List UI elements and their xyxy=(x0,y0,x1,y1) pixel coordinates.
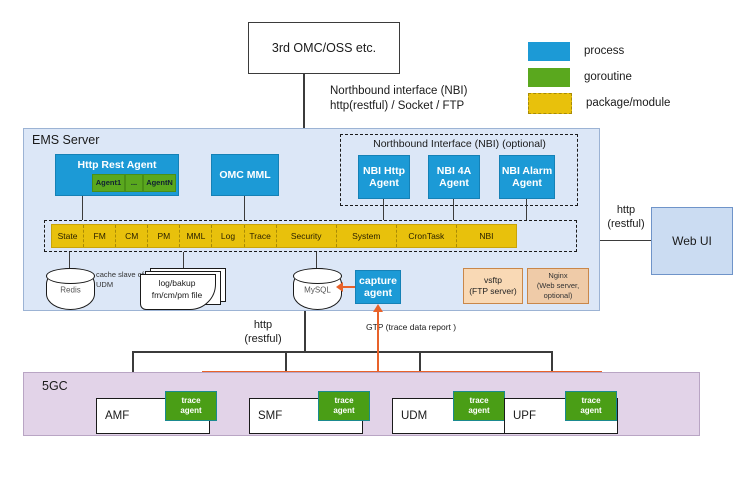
nbi-4a-agent-label: NBI 4A Agent xyxy=(429,165,479,190)
connector-nbi-4a-to-modules xyxy=(453,199,454,220)
nginx-service-box[interactable]: Nginx (Web server, optional) xyxy=(527,268,589,304)
nf-udm-label: UDM xyxy=(401,410,427,422)
nginx-line2: (Web server, xyxy=(537,281,579,291)
module-security[interactable]: Security xyxy=(277,225,337,247)
gtp-drop-to-capture-agent xyxy=(377,311,379,372)
nbi-group-title: Northbound Interface (NBI) (optional) xyxy=(352,138,567,150)
omc-mml-label: OMC MML xyxy=(219,169,270,182)
gtp-link-label: GTP (trace data report ) xyxy=(366,322,526,332)
web-ui-link-label: http (restful) xyxy=(604,203,648,231)
module-state[interactable]: State xyxy=(52,225,84,247)
module-fm[interactable]: FM xyxy=(84,225,116,247)
legend-item-package-module: package/module xyxy=(528,90,743,116)
smf-trace-agent-line2: agent xyxy=(333,406,354,416)
redis-cylinder-cap xyxy=(46,268,96,284)
module-log[interactable]: Log xyxy=(212,225,244,247)
legend-swatch-goroutine xyxy=(528,68,570,87)
file-storage-line2: fm/cm/pm file xyxy=(140,289,214,301)
goroutine-agent1[interactable]: Agent1 xyxy=(92,174,125,192)
connector-nbi-http-to-modules xyxy=(383,199,384,220)
nf-smf-label: SMF xyxy=(258,410,282,422)
upf-trace-agent-line2: agent xyxy=(580,406,601,416)
redis-datastore[interactable]: Redis xyxy=(46,268,95,310)
arrow-capture-agent-to-mysql xyxy=(342,286,355,288)
web-ui-box[interactable]: Web UI xyxy=(651,207,733,275)
file-storage-label: log/bakup fm/cm/pm file xyxy=(140,277,214,301)
vsftp-line2: (FTP server) xyxy=(469,286,517,297)
connector-http-rest-agent-to-modules xyxy=(82,196,83,220)
web-ui-link-line1: http xyxy=(604,203,648,217)
legend-swatch-package-module xyxy=(528,93,572,114)
upf-trace-agent-line1: trace xyxy=(581,396,600,406)
nginx-line3: optional) xyxy=(544,291,573,301)
http-restful-line2: (restful) xyxy=(239,332,287,346)
amf-trace-agent[interactable]: trace agent xyxy=(165,391,217,421)
nbi-alarm-agent-box[interactable]: NBI Alarm Agent xyxy=(499,155,555,199)
goroutine-agent-ellipsis: ... xyxy=(125,174,143,192)
mysql-datastore[interactable]: MySQL xyxy=(293,268,342,310)
nf-upf-box[interactable]: UPF trace agent xyxy=(504,398,618,434)
web-ui-link-line2: (restful) xyxy=(604,217,648,231)
legend: process goroutine package/module xyxy=(528,38,743,116)
legend-item-process: process xyxy=(528,38,743,64)
omc-mml-box[interactable]: OMC MML xyxy=(211,154,279,196)
udm-trace-agent[interactable]: trace agent xyxy=(453,391,505,421)
goroutine-agentn[interactable]: AgentN xyxy=(143,174,176,192)
amf-trace-agent-line1: trace xyxy=(181,396,200,406)
module-nbi[interactable]: NBI xyxy=(457,225,516,247)
http-rest-agent-box[interactable]: Http Rest Agent Agent1 ... AgentN xyxy=(55,154,179,196)
third-party-omc-oss-box[interactable]: 3rd OMC/OSS etc. xyxy=(248,22,400,74)
vsftp-line1: vsftp xyxy=(484,275,502,286)
bus-ems-drop-http xyxy=(304,311,306,352)
bus-horizontal-nf xyxy=(132,351,552,353)
module-mml[interactable]: MML xyxy=(180,225,212,247)
module-trace[interactable]: Trace xyxy=(245,225,277,247)
nbi-alarm-agent-label: NBI Alarm Agent xyxy=(500,165,554,190)
northbound-interface-link-label: Northbound interface (NBI) http(restful)… xyxy=(330,84,560,114)
connector-omc-mml-to-modules xyxy=(244,196,245,220)
nbi-link-line2: http(restful) / Socket / FTP xyxy=(330,99,560,114)
nf-upf-label: UPF xyxy=(513,410,536,422)
capture-agent-box[interactable]: capture agent xyxy=(355,270,401,304)
file-storage-line1: log/bakup xyxy=(140,277,214,289)
mysql-cylinder-cap xyxy=(293,268,343,284)
connector-omcoss-to-ems xyxy=(303,74,305,128)
module-system[interactable]: System xyxy=(337,225,397,247)
legend-label-package-module: package/module xyxy=(586,97,670,109)
legend-swatch-process xyxy=(528,42,570,61)
nf-smf-box[interactable]: SMF trace agent xyxy=(249,398,363,434)
fivegc-title: 5GC xyxy=(42,379,68,393)
nf-amf-box[interactable]: AMF trace agent xyxy=(96,398,210,434)
connector-nbi-alarm-to-modules xyxy=(526,199,527,220)
module-pm[interactable]: PM xyxy=(148,225,180,247)
amf-trace-agent-line2: agent xyxy=(180,406,201,416)
redis-label: Redis xyxy=(47,285,94,294)
ems-server-title: EMS Server xyxy=(32,133,99,147)
mysql-label: MySQL xyxy=(294,285,341,294)
http-restful-link-label: http (restful) xyxy=(239,318,287,346)
legend-item-goroutine: goroutine xyxy=(528,64,743,90)
capture-agent-line2: agent xyxy=(364,287,392,300)
arrowhead-gtp-to-capture-agent xyxy=(373,304,383,312)
module-crontask[interactable]: CronTask xyxy=(397,225,457,247)
upf-trace-agent[interactable]: trace agent xyxy=(565,391,617,421)
udm-trace-agent-line1: trace xyxy=(469,396,488,406)
web-ui-label: Web UI xyxy=(672,234,712,248)
nbi-http-agent-label: NBI Http Agent xyxy=(359,165,409,190)
smf-trace-agent[interactable]: trace agent xyxy=(318,391,370,421)
http-rest-agent-goroutines: Agent1 ... AgentN xyxy=(92,174,176,192)
http-restful-line1: http xyxy=(239,318,287,332)
vsftp-service-box[interactable]: vsftp (FTP server) xyxy=(463,268,523,304)
arrowhead-capture-to-mysql xyxy=(336,282,343,292)
smf-trace-agent-line1: trace xyxy=(334,396,353,406)
nbi-4a-agent-box[interactable]: NBI 4A Agent xyxy=(428,155,480,199)
module-bar: State FM CM PM MML Log Trace Security Sy… xyxy=(51,224,517,248)
module-cm[interactable]: CM xyxy=(116,225,148,247)
nginx-line1: Nginx xyxy=(548,271,567,281)
http-rest-agent-title: Http Rest Agent xyxy=(56,159,178,172)
connector-ems-to-web-ui xyxy=(600,240,651,241)
omc-oss-label: 3rd OMC/OSS etc. xyxy=(272,41,376,55)
file-storage-stack[interactable]: log/bakup fm/cm/pm file xyxy=(140,268,226,308)
capture-agent-line1: capture xyxy=(359,275,397,288)
legend-label-goroutine: goroutine xyxy=(584,71,632,83)
legend-label-process: process xyxy=(584,45,624,57)
udm-trace-agent-line2: agent xyxy=(468,406,489,416)
nf-udm-box[interactable]: UDM trace agent xyxy=(392,398,506,434)
nbi-http-agent-box[interactable]: NBI Http Agent xyxy=(358,155,410,199)
nbi-link-line1: Northbound interface (NBI) xyxy=(330,84,560,99)
nf-amf-label: AMF xyxy=(105,410,129,422)
